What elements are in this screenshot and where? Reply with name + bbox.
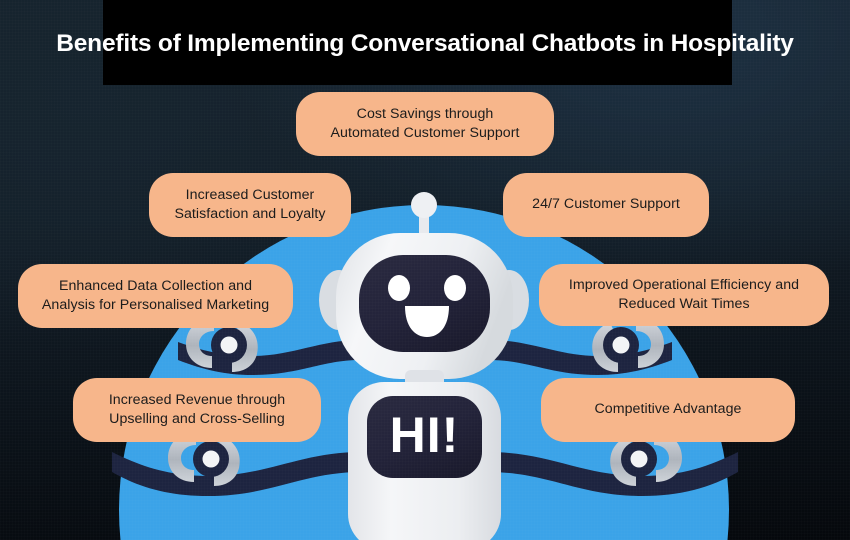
benefit-pill-line1: Competitive Advantage xyxy=(595,400,742,420)
benefit-pill-operational-efficiency[interactable]: Improved Operational Efficiency andReduc… xyxy=(539,264,829,326)
benefit-pill-line2: Satisfaction and Loyalty xyxy=(174,205,325,225)
robot-chest-text: HI! xyxy=(390,407,460,463)
benefit-pill-line1: Increased Revenue through xyxy=(109,391,285,411)
robot-eye-right xyxy=(444,275,466,301)
benefit-pill-cost-savings[interactable]: Cost Savings throughAutomated Customer S… xyxy=(296,92,554,156)
benefit-pill-line1: Cost Savings through xyxy=(331,105,520,125)
benefit-pill-line1: Enhanced Data Collection and xyxy=(42,277,269,297)
benefit-pill-data-collection[interactable]: Enhanced Data Collection andAnalysis for… xyxy=(18,264,293,328)
benefit-pill-support-24-7[interactable]: 24/7 Customer Support xyxy=(503,173,709,237)
benefit-pill-competitive-advantage[interactable]: Competitive Advantage xyxy=(541,378,795,442)
robot-face-screen xyxy=(359,255,490,352)
benefit-pill-line1: Improved Operational Efficiency and xyxy=(569,276,799,296)
benefit-pill-line1: Increased Customer xyxy=(174,186,325,206)
page-title: Benefits of Implementing Conversational … xyxy=(0,29,850,59)
benefit-pill-line2: Upselling and Cross-Selling xyxy=(109,410,285,430)
benefit-pill-line1: 24/7 Customer Support xyxy=(532,195,680,215)
benefit-pill-line2: Analysis for Personalised Marketing xyxy=(42,296,269,316)
robot-antenna-ball xyxy=(411,192,437,218)
benefit-pill-customer-satisfaction[interactable]: Increased CustomerSatisfaction and Loyal… xyxy=(149,173,351,237)
infographic-canvas: HI! Benefits of Implementing Conversatio… xyxy=(0,0,850,540)
benefit-pill-revenue-upselling[interactable]: Increased Revenue throughUpselling and C… xyxy=(73,378,321,442)
robot-eye-left xyxy=(388,275,410,301)
benefit-pill-line2: Reduced Wait Times xyxy=(569,295,799,315)
benefit-pill-line2: Automated Customer Support xyxy=(331,124,520,144)
